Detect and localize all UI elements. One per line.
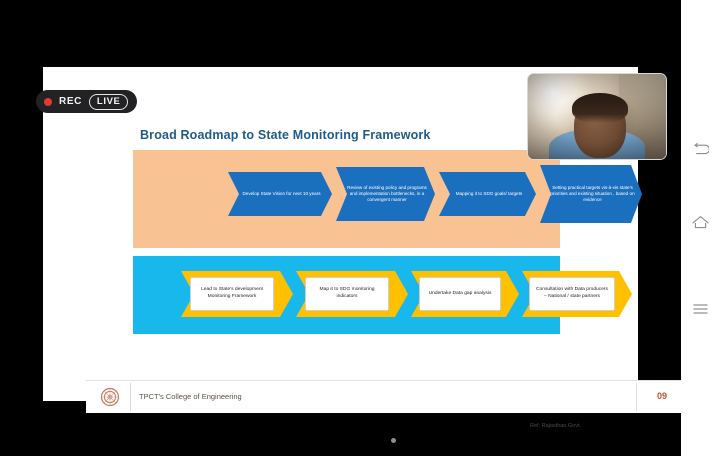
roadmap-row-1-band: Develop State Vision for next 10 years R… bbox=[133, 150, 560, 248]
college-seal-logo-icon bbox=[100, 387, 120, 407]
slide-title: Broad Roadmap to State Monitoring Framew… bbox=[140, 128, 431, 142]
roadmap-row-2-band: Lead to State's development Monitoring F… bbox=[133, 256, 560, 334]
roadmap-step-6: Map it to SDG monitoring indicators bbox=[305, 277, 389, 311]
slide-page-number: 09 bbox=[657, 391, 667, 401]
roadmap-step-8: Consultation with Data producers – Natio… bbox=[529, 277, 615, 311]
footer-divider-left bbox=[130, 383, 131, 411]
recording-status-badge[interactable]: REC LIVE bbox=[36, 90, 137, 113]
presenter-webcam-feed[interactable] bbox=[527, 73, 667, 160]
footer-divider-right bbox=[636, 383, 637, 411]
roadmap-step-4: Setting practical targets vis-à-vis stat… bbox=[540, 165, 642, 223]
webcam-vignette bbox=[528, 74, 666, 159]
record-dot-icon bbox=[44, 98, 52, 106]
device-screen: Broad Roadmap to State Monitoring Framew… bbox=[0, 0, 719, 456]
slide-reference: Ref: Rajasthan Govt. bbox=[530, 423, 581, 429]
footer-institution-name: TPCT's College of Engineering bbox=[139, 392, 242, 401]
home-icon[interactable] bbox=[681, 205, 719, 239]
android-navigation-bar bbox=[681, 0, 719, 456]
rec-label: REC bbox=[59, 96, 82, 107]
roadmap-step-1: Develop State Vision for next 10 years bbox=[228, 172, 332, 216]
back-arrow-icon[interactable] bbox=[681, 132, 719, 166]
roadmap-step-5: Lead to State's development Monitoring F… bbox=[190, 277, 274, 311]
roadmap-step-3: Mapping it to SDG goals/ targets bbox=[439, 172, 536, 216]
slide-footer: TPCT's College of Engineering 09 bbox=[86, 380, 681, 413]
slide-progress-dot bbox=[391, 438, 396, 443]
live-badge: LIVE bbox=[89, 94, 129, 110]
roadmap-step-2: Review of existing policy and programs a… bbox=[336, 167, 435, 221]
recents-menu-icon[interactable] bbox=[681, 292, 719, 326]
roadmap-step-7: Undertake Data gap analysis bbox=[419, 277, 501, 311]
